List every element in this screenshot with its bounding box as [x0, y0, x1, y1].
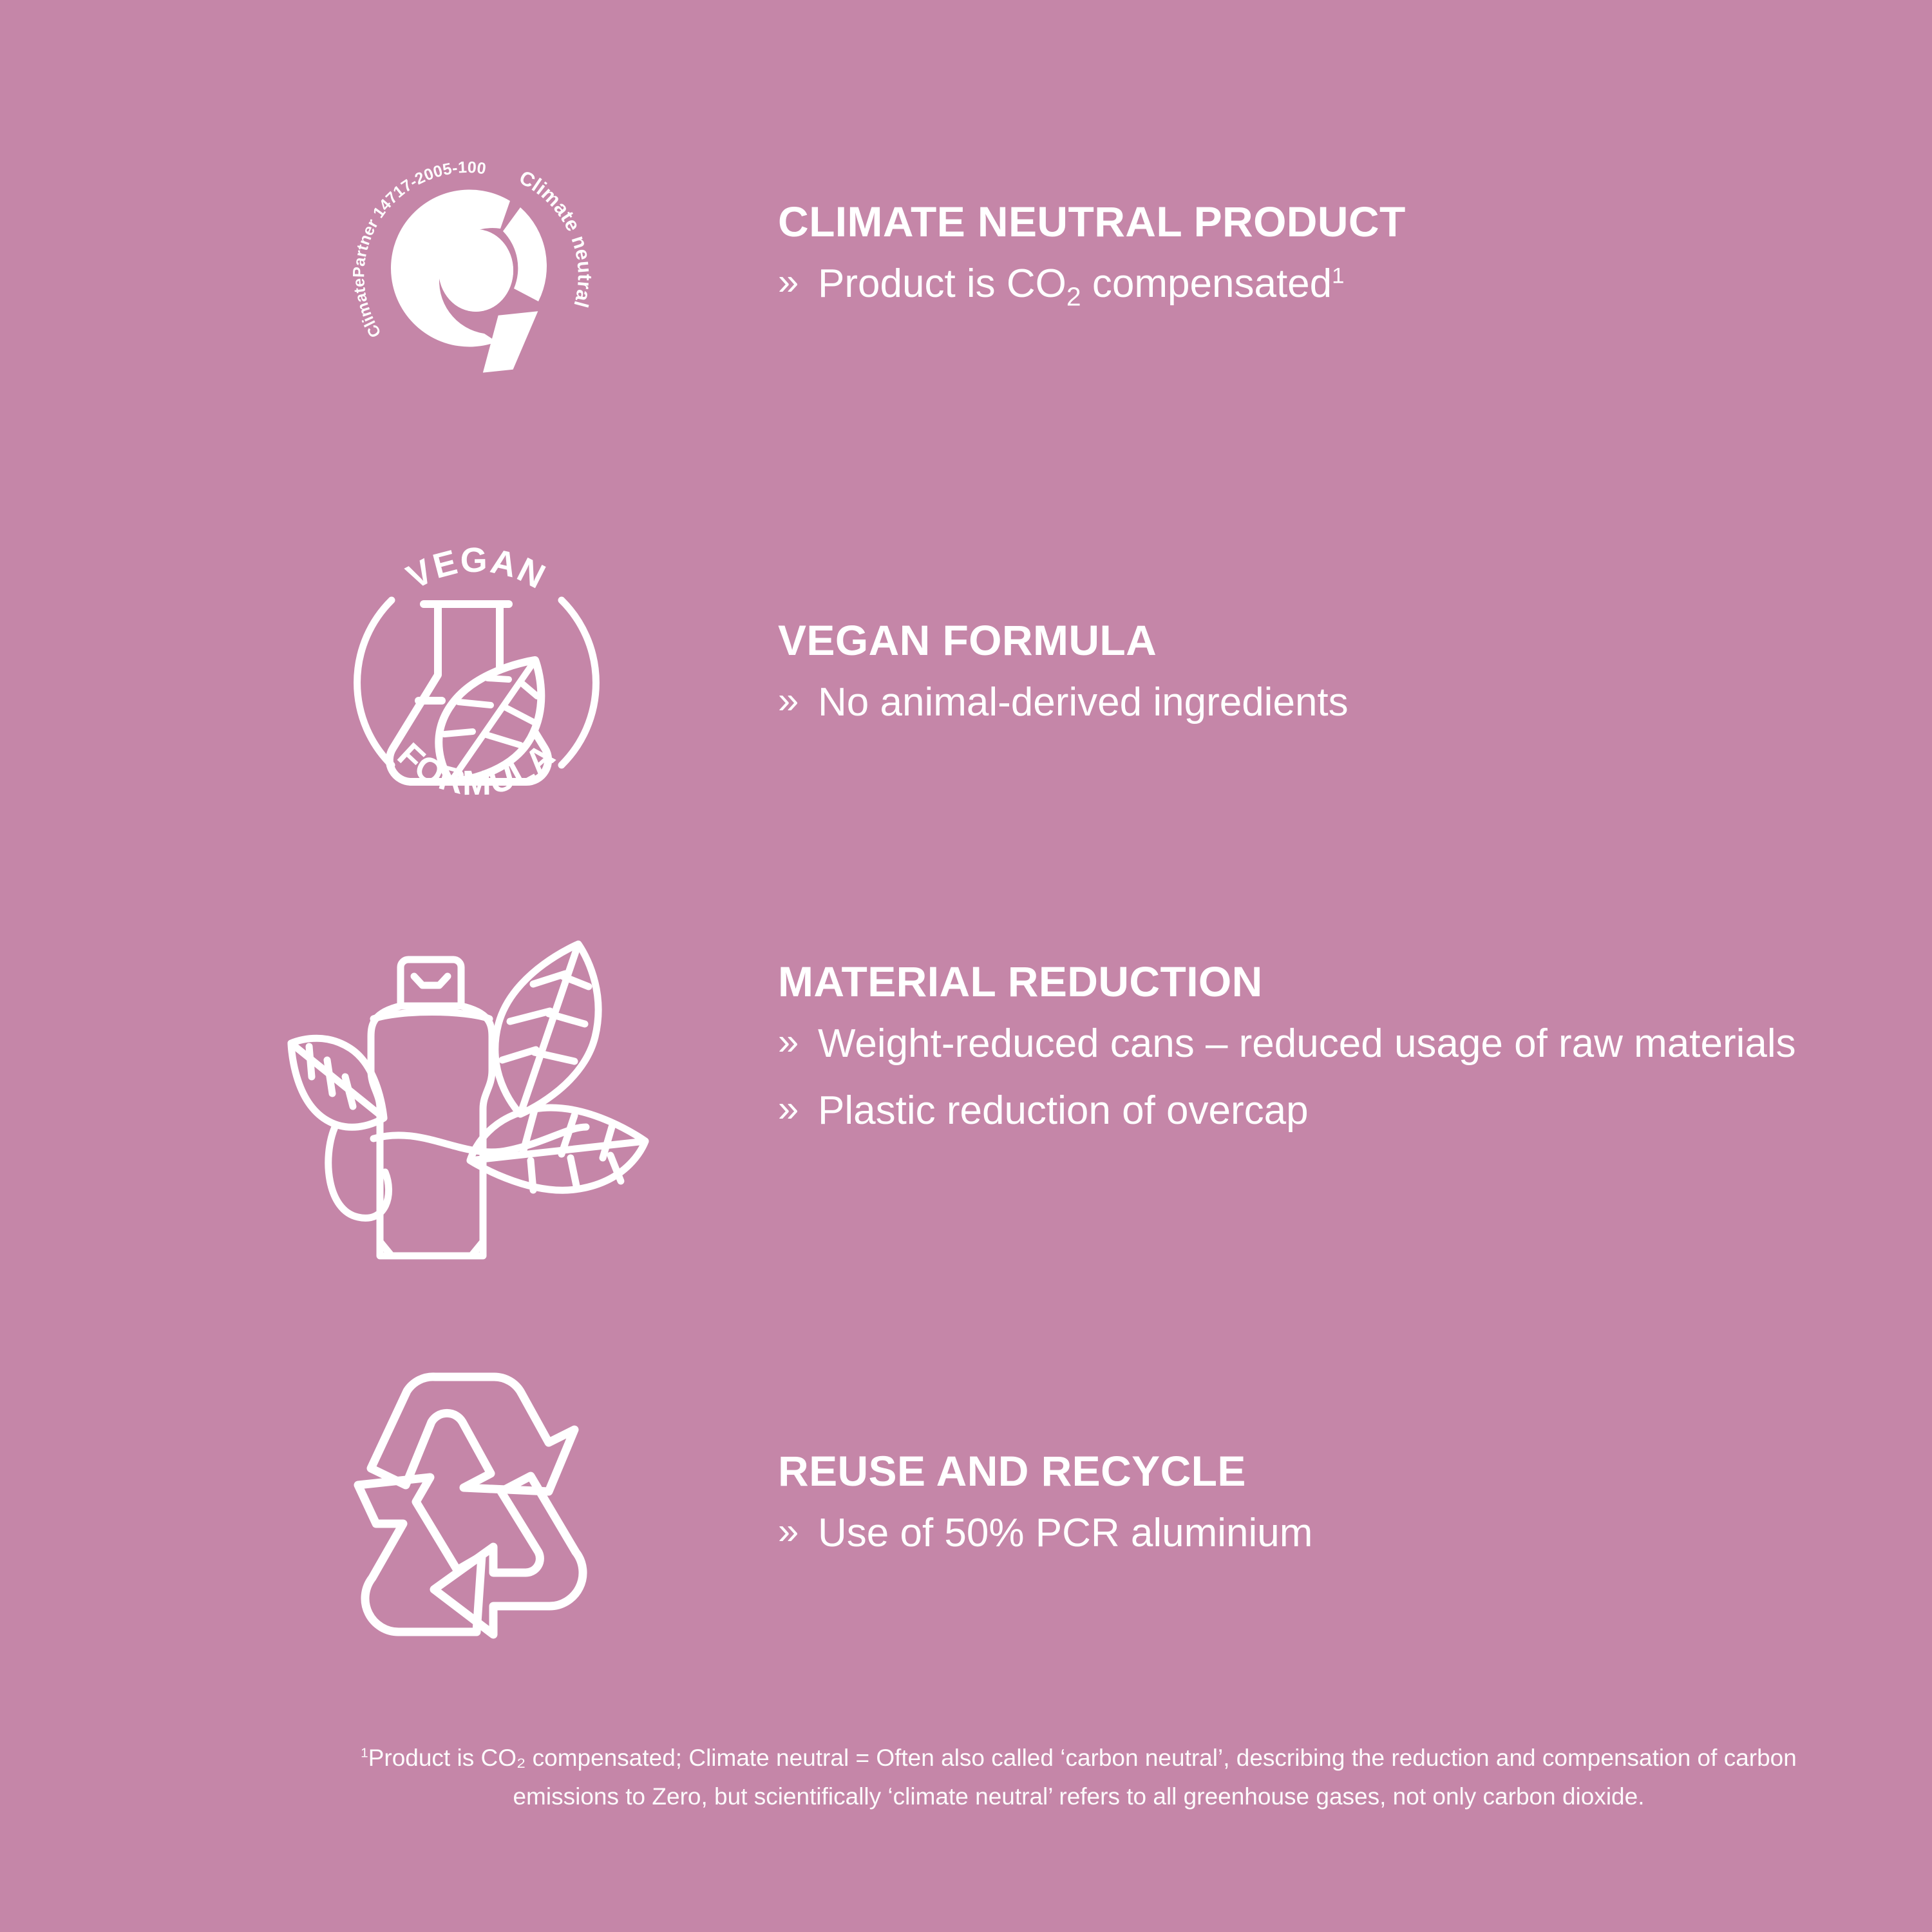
climatepartner-seal-icon-cell: ClimatePartner 14717-2005-1001 Climate n…	[245, 148, 708, 406]
chevron-marker-icon: »	[778, 1507, 818, 1557]
bullet-list-climate-neutral: » Product is CO2 compensated1	[778, 258, 1873, 310]
bullet-text: No animal-derived ingredients	[818, 676, 1823, 729]
sustainability-panel: ClimatePartner 14717-2005-1001 Climate n…	[0, 0, 1932, 1932]
chevron-marker-icon: »	[778, 1018, 818, 1067]
bullet-text: Use of 50% PCR aluminium	[818, 1507, 1823, 1560]
feature-title-material-reduction: MATERIAL REDUCTION	[778, 960, 1873, 1005]
vegan-formula-seal-icon-cell: VEGAN FORMULA	[245, 522, 708, 844]
chevron-marker-icon: »	[778, 1084, 818, 1134]
bullet-list-material-reduction: » Weight-reduced cans – reduced usage of…	[778, 1018, 1873, 1137]
footnote-text: Product is CO₂ compensated; Climate neut…	[368, 1745, 1797, 1810]
vegan-top-label: VEGAN	[401, 541, 553, 597]
vegan-formula-text-cell: VEGAN FORMULA » No animal-derived ingred…	[778, 618, 1873, 733]
material-reduction-icon-cell	[245, 927, 708, 1301]
bullet-text: Plastic reduction of overcap	[818, 1084, 1823, 1137]
chevron-marker-icon: »	[778, 676, 818, 726]
co2-subscript: 2	[1066, 281, 1081, 311]
feature-title-climate-neutral: CLIMATE NEUTRAL PRODUCT	[778, 200, 1873, 245]
bullet-list-reuse-and-recycle: » Use of 50% PCR aluminium	[778, 1507, 1873, 1560]
bullet-text: Weight-reduced cans – reduced usage of r…	[818, 1018, 1823, 1070]
footnote-block: 1Product is CO₂ compensated; Climate neu…	[361, 1739, 1797, 1816]
bullet-item: » Product is CO2 compensated1	[778, 258, 1873, 310]
bullet-text: Product is CO2 compensated1	[818, 258, 1823, 310]
recycle-arrow-right	[434, 1476, 583, 1634]
vegan-formula-flask-leaf-seal-icon: VEGAN FORMULA	[316, 522, 638, 844]
recycle-arrow-top	[371, 1377, 574, 1492]
footnote-superscript: 1	[1332, 263, 1344, 288]
feature-title-reuse-and-recycle: REUSE AND RECYCLE	[778, 1449, 1873, 1494]
leaf-upper-right-icon	[495, 944, 598, 1114]
bullet-item: » No animal-derived ingredients	[778, 676, 1873, 729]
climatepartner-ring-mark	[391, 189, 547, 372]
bullet-item: » Weight-reduced cans – reduced usage of…	[778, 1018, 1873, 1070]
bullet-list-vegan-formula: » No animal-derived ingredients	[778, 676, 1873, 729]
bullet-item: » Use of 50% PCR aluminium	[778, 1507, 1873, 1560]
recycling-mobius-triangle-icon	[309, 1365, 644, 1713]
material-reduction-text-cell: MATERIAL REDUCTION » Weight-reduced cans…	[778, 960, 1873, 1141]
aerosol-can-icon	[371, 960, 492, 1256]
reuse-recycle-text-cell: REUSE AND RECYCLE » Use of 50% PCR alumi…	[778, 1449, 1873, 1564]
recycle-icon-cell	[245, 1365, 708, 1713]
aerosol-can-with-leaves-icon	[277, 934, 676, 1294]
bullet-item: » Plastic reduction of overcap	[778, 1084, 1873, 1137]
footnote-marker: 1	[361, 1746, 368, 1761]
climate-neutral-text-cell: CLIMATE NEUTRAL PRODUCT » Product is CO2…	[778, 200, 1873, 314]
climatepartner-climate-neutral-seal-icon: ClimatePartner 14717-2005-1001 Climate n…	[348, 148, 605, 406]
chevron-marker-icon: »	[778, 258, 818, 307]
feature-title-vegan-formula: VEGAN FORMULA	[778, 618, 1873, 663]
